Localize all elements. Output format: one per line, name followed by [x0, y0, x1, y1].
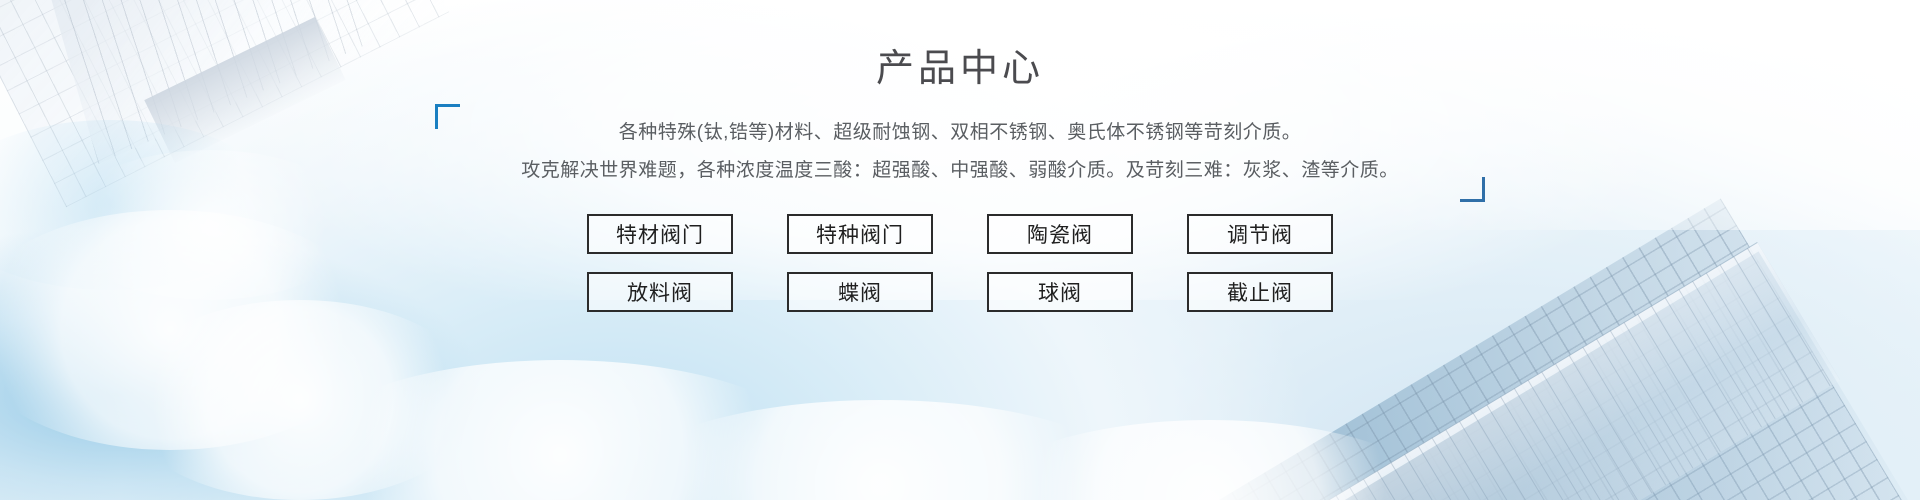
category-button-special-valve[interactable]: 特种阀门 — [787, 214, 933, 254]
page-title: 产品中心 — [876, 50, 1044, 88]
category-grid: 特材阀门 特种阀门 陶瓷阀 调节阀 放料阀 蝶阀 球阀 截止阀 — [587, 214, 1333, 312]
corner-bracket-top-left-icon — [435, 104, 460, 129]
corner-bracket-bottom-right-icon — [1460, 177, 1485, 202]
category-button-discharge-valve[interactable]: 放料阀 — [587, 272, 733, 312]
description-block: 各种特殊(钛,锆等)材料、超级耐蚀钢、双相不锈钢、奥氏体不锈钢等苛刻介质。 攻克… — [480, 114, 1440, 190]
description-line-2: 攻克解决世界难题，各种浓度温度三酸：超强酸、中强酸、弱酸介质。及苛刻三难：灰浆、… — [480, 152, 1440, 190]
category-button-butterfly-valve[interactable]: 蝶阀 — [787, 272, 933, 312]
description-line-1: 各种特殊(钛,锆等)材料、超级耐蚀钢、双相不锈钢、奥氏体不锈钢等苛刻介质。 — [480, 114, 1440, 152]
category-button-globe-valve[interactable]: 截止阀 — [1187, 272, 1333, 312]
category-button-techai-valve[interactable]: 特材阀门 — [587, 214, 733, 254]
category-button-ball-valve[interactable]: 球阀 — [987, 272, 1133, 312]
category-button-ceramic-valve[interactable]: 陶瓷阀 — [987, 214, 1133, 254]
category-button-control-valve[interactable]: 调节阀 — [1187, 214, 1333, 254]
product-center-banner: 产品中心 各种特殊(钛,锆等)材料、超级耐蚀钢、双相不锈钢、奥氏体不锈钢等苛刻介… — [0, 0, 1920, 500]
banner-content: 产品中心 各种特殊(钛,锆等)材料、超级耐蚀钢、双相不锈钢、奥氏体不锈钢等苛刻介… — [0, 0, 1920, 500]
